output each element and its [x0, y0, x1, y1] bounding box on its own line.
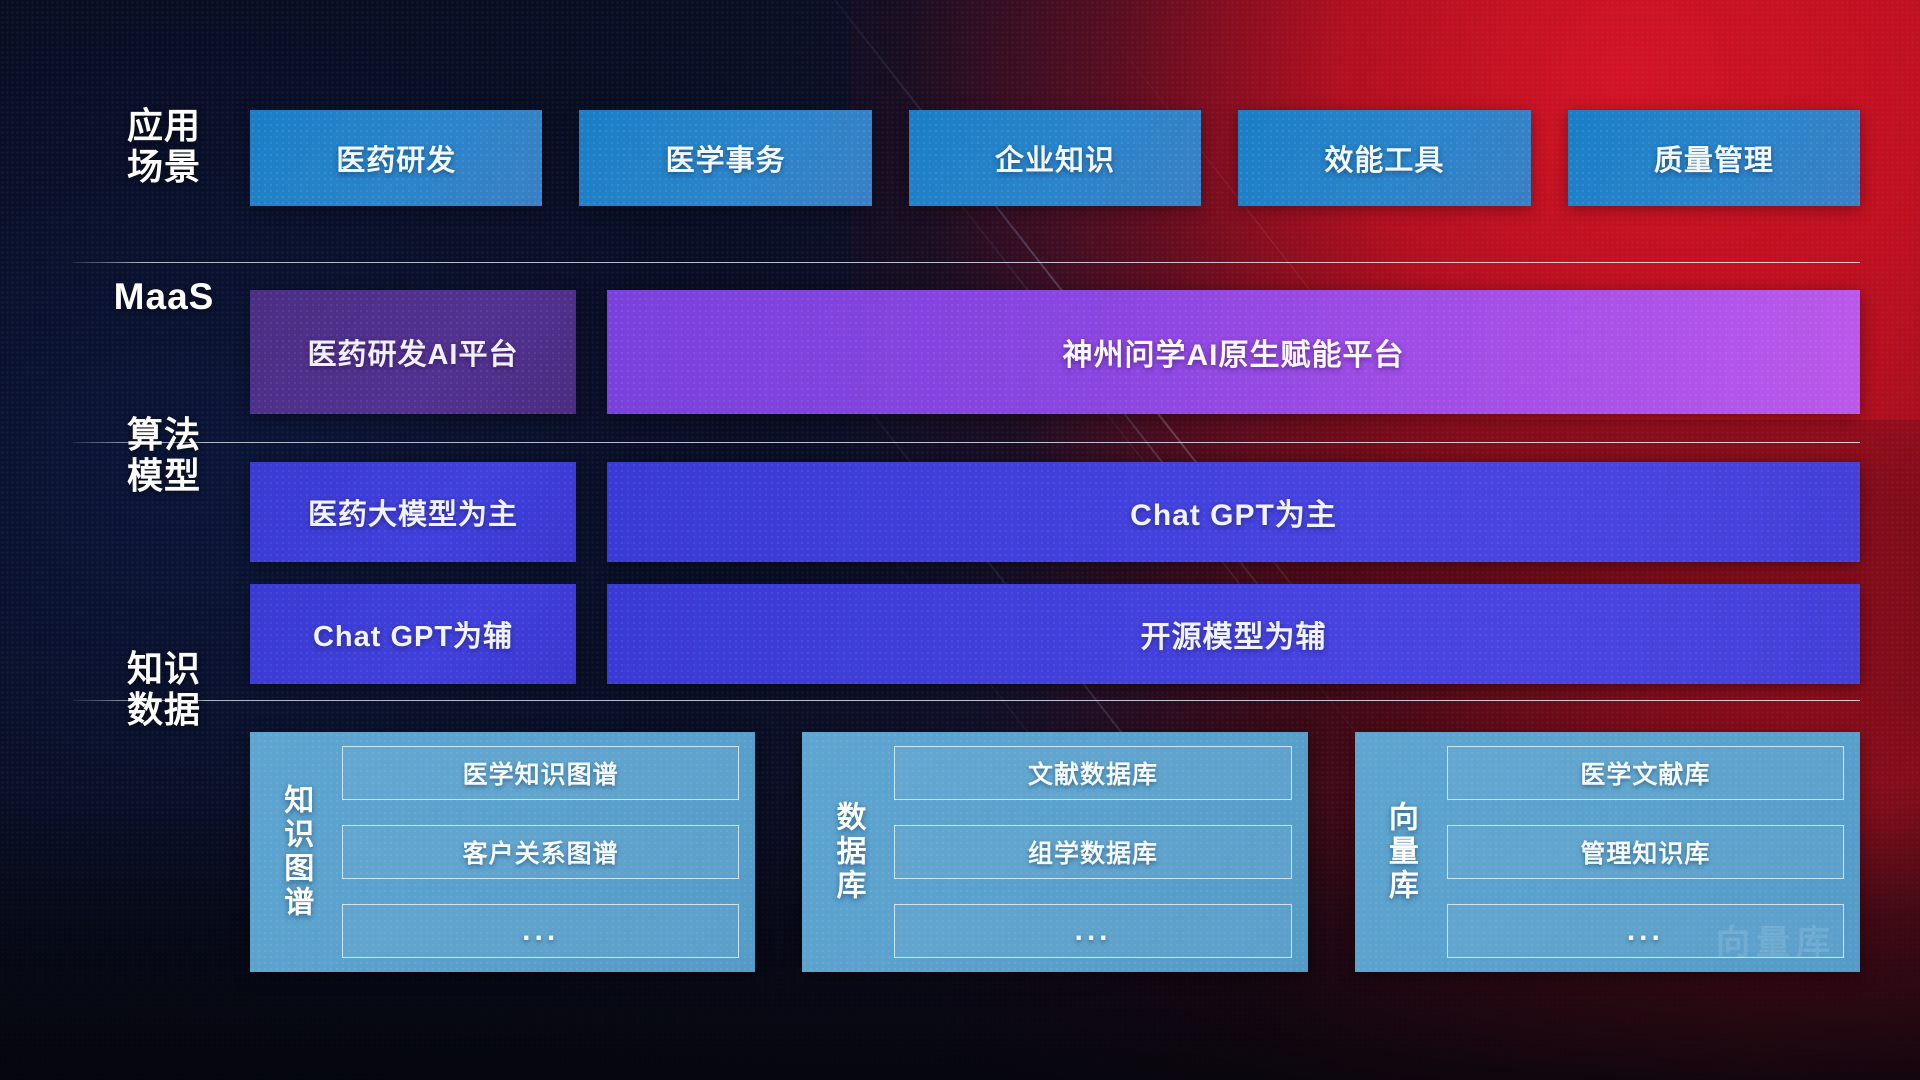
- application-box-2[interactable]: 医学事务: [579, 110, 871, 206]
- knowledge-group-graph-category: 知识图谱: [266, 746, 324, 958]
- algorithm-secondary-right-box[interactable]: 开源模型为辅: [607, 584, 1860, 684]
- application-box-5-label: 质量管理: [1654, 137, 1774, 179]
- knowledge-group-vector-category: 向量库: [1371, 746, 1429, 958]
- watermark-text: 向量库: [1716, 915, 1836, 964]
- row-divider-1: [73, 262, 1860, 263]
- knowledge-group-graph[interactable]: 知识图谱 医学知识图谱 客户关系图谱 ...: [250, 732, 755, 972]
- row-label-algorithm-line2: 模型: [78, 455, 250, 496]
- knowledge-item-vector-2[interactable]: 管理知识库: [1447, 825, 1844, 879]
- algorithm-primary-right-label: Chat GPT为主: [1130, 490, 1337, 534]
- row-label-algorithm: 算法 模型: [78, 414, 250, 496]
- knowledge-group-graph-items: 医学知识图谱 客户关系图谱 ...: [342, 746, 739, 958]
- algorithm-line-1: 医药大模型为主 Chat GPT为主: [250, 462, 1860, 562]
- application-box-1[interactable]: 医药研发: [250, 110, 542, 206]
- architecture-diagram: 应用 场景 医药研发 医学事务 企业知识 效能工具 质量管理 MaaS: [0, 0, 1920, 1080]
- row-label-application-line2: 场景: [78, 146, 250, 187]
- application-box-4[interactable]: 效能工具: [1238, 110, 1530, 206]
- row-label-application-line1: 应用: [78, 105, 250, 146]
- maas-platform-label: 医药研发AI平台: [307, 331, 518, 373]
- knowledge-group-database-category-label: 数据库: [831, 801, 863, 903]
- algorithm-secondary-left-label: Chat GPT为辅: [313, 613, 513, 655]
- algorithm-line-2: Chat GPT为辅 开源模型为辅: [250, 584, 1860, 684]
- maas-platform-box[interactable]: 医药研发AI平台: [250, 290, 576, 414]
- algorithm-primary-right-box[interactable]: Chat GPT为主: [607, 462, 1860, 562]
- knowledge-item-graph-3[interactable]: ...: [342, 904, 739, 958]
- row-divider-3: [73, 700, 1860, 701]
- maas-enablement-box[interactable]: 神州问学AI原生赋能平台: [607, 290, 1860, 414]
- knowledge-group-graph-category-label: 知识图谱: [279, 784, 311, 920]
- knowledge-group-vector-category-label: 向量库: [1383, 801, 1415, 903]
- slide-canvas: 应用 场景 医药研发 医学事务 企业知识 效能工具 质量管理 MaaS: [0, 0, 1920, 1080]
- row-divider-2: [73, 442, 1860, 443]
- row-label-application: 应用 场景: [78, 105, 250, 187]
- row-label-knowledge: 知识 数据: [78, 648, 250, 730]
- application-box-2-label: 医学事务: [666, 137, 786, 179]
- application-box-4-label: 效能工具: [1324, 137, 1444, 179]
- algorithm-primary-left-box[interactable]: 医药大模型为主: [250, 462, 576, 562]
- application-box-1-label: 医药研发: [336, 137, 456, 179]
- knowledge-group-database-items: 文献数据库 组学数据库 ...: [894, 746, 1291, 958]
- algorithm-secondary-left-box[interactable]: Chat GPT为辅: [250, 584, 576, 684]
- row-label-algorithm-line1: 算法: [78, 414, 250, 455]
- application-row: 医药研发 医学事务 企业知识 效能工具 质量管理: [250, 110, 1860, 206]
- knowledge-item-database-3[interactable]: ...: [894, 904, 1291, 958]
- knowledge-item-graph-1[interactable]: 医学知识图谱: [342, 746, 739, 800]
- row-label-knowledge-line2: 数据: [78, 689, 250, 730]
- maas-row: 医药研发AI平台 神州问学AI原生赋能平台: [250, 290, 1860, 414]
- application-box-5[interactable]: 质量管理: [1568, 110, 1860, 206]
- row-label-knowledge-line1: 知识: [78, 648, 250, 689]
- maas-enablement-label: 神州问学AI原生赋能平台: [1063, 330, 1405, 374]
- knowledge-item-database-1[interactable]: 文献数据库: [894, 746, 1291, 800]
- knowledge-group-database[interactable]: 数据库 文献数据库 组学数据库 ...: [802, 732, 1307, 972]
- knowledge-group-database-category: 数据库: [818, 746, 876, 958]
- algorithm-primary-left-label: 医药大模型为主: [308, 491, 518, 533]
- application-box-3-label: 企业知识: [995, 137, 1115, 179]
- knowledge-row: 知识图谱 医学知识图谱 客户关系图谱 ... 数据库 文献数据库 组学数据库 .…: [250, 732, 1860, 972]
- knowledge-item-database-2[interactable]: 组学数据库: [894, 825, 1291, 879]
- row-label-maas: MaaS: [78, 276, 250, 318]
- algorithm-secondary-right-label: 开源模型为辅: [1141, 612, 1327, 656]
- knowledge-item-graph-2[interactable]: 客户关系图谱: [342, 825, 739, 879]
- application-box-3[interactable]: 企业知识: [909, 110, 1201, 206]
- algorithm-row: 医药大模型为主 Chat GPT为主 Chat GPT为辅 开源模型为辅: [250, 462, 1860, 684]
- knowledge-item-vector-1[interactable]: 医学文献库: [1447, 746, 1844, 800]
